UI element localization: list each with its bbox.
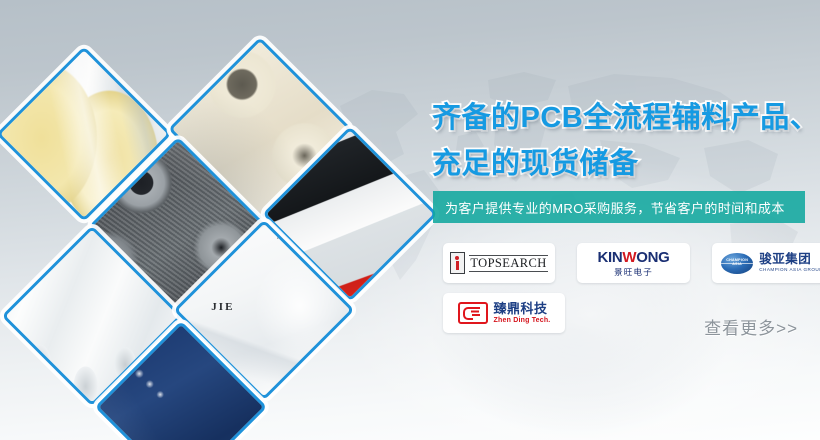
kinwong-wordmark: KINWONG <box>597 249 669 266</box>
champion-asia-english-name: CHAMPION ASIA GROUP <box>759 266 820 273</box>
logo-champion-asia[interactable]: CHAMPION ASIA 骏亚集团 CHAMPION ASIA GROUP <box>712 243 820 283</box>
kinwong-chinese-name: 景旺电子 <box>614 267 653 277</box>
zhen-ding-zd-icon <box>458 302 488 324</box>
kinwong-text-part3: ONG <box>636 249 669 266</box>
champion-asia-globe-text: CHAMPION ASIA <box>721 258 753 266</box>
product-collage: JIE RK J <box>0 0 430 440</box>
subtitle-bar: 为客户提供专业的MRO采购服务，节省客户的时间和成本 <box>433 191 805 223</box>
champion-asia-globe-icon: CHAMPION ASIA <box>721 253 753 274</box>
logo-kinwong[interactable]: KINWONG 景旺电子 <box>577 243 690 283</box>
topsearch-badge-icon <box>450 252 465 274</box>
headline-line-2: 充足的现货储备 <box>432 140 820 182</box>
headline-line-1: 齐备的PCB全流程辅料产品、 <box>432 94 820 136</box>
logo-topsearch[interactable]: TOPSEARCH <box>443 243 555 283</box>
kinwong-text-part2: W <box>622 249 636 266</box>
subtitle-text: 为客户提供专业的MRO采购服务，节省客户的时间和成本 <box>433 198 785 217</box>
logo-zhen-ding[interactable]: 臻鼎科技 Zhen Ding Tech. <box>443 293 565 333</box>
promo-banner: JIE RK J 齐备的PCB全流程辅料产品、 充足的现货储备 为客户提供专业的… <box>0 0 820 440</box>
view-more-link[interactable]: 查看更多>> <box>704 314 798 339</box>
champion-asia-chinese-name: 骏亚集团 <box>759 253 820 266</box>
liner-print-text: JIE <box>211 301 234 313</box>
client-logo-row-2: 臻鼎科技 Zhen Ding Tech. <box>443 293 565 333</box>
zhen-ding-chinese-name: 臻鼎科技 <box>494 302 551 316</box>
kinwong-text-part1: KIN <box>597 249 622 266</box>
topsearch-wordmark: TOPSEARCH <box>469 255 547 272</box>
zhen-ding-english-name: Zhen Ding Tech. <box>494 316 551 325</box>
client-logo-row-1: TOPSEARCH KINWONG 景旺电子 CHAMPION ASIA 骏亚集… <box>443 243 820 283</box>
banner-content: 齐备的PCB全流程辅料产品、 充足的现货储备 为客户提供专业的MRO采购服务，节… <box>425 0 820 440</box>
